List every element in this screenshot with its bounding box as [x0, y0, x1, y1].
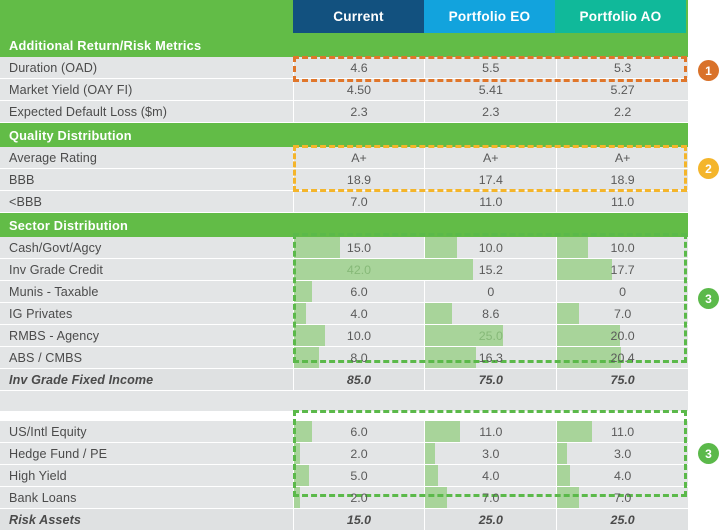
- cell-current: 15.0: [294, 237, 425, 258]
- cell-current: 6.0: [294, 421, 425, 442]
- cell-ao: 4.0: [557, 465, 688, 486]
- cell-ao: 18.9: [557, 169, 688, 190]
- table-row[interactable]: Inv Grade Credit 42.0 15.2 17.7: [0, 259, 688, 281]
- cell-eo: 4.0: [425, 465, 556, 486]
- cell-eo: 7.0: [425, 487, 556, 508]
- bar-fill: [294, 487, 300, 508]
- bar-fill: [557, 303, 579, 324]
- bar-fill: [425, 303, 452, 324]
- report-table-page: Current Portfolio EO Portfolio AO Additi…: [0, 0, 727, 527]
- cell-eo: 5.41: [425, 79, 556, 100]
- cell-current: 42.0: [294, 259, 425, 280]
- table-row[interactable]: Hedge Fund / PE 2.0 3.0 3.0: [0, 443, 688, 465]
- cell-eo: 75.0: [425, 369, 556, 390]
- cell-ao: 17.7: [557, 259, 688, 280]
- row-label: Bank Loans: [0, 487, 293, 508]
- cell-ao: 10.0: [557, 237, 688, 258]
- annotation-badge-3[interactable]: 3: [698, 288, 719, 309]
- table-row[interactable]: Cash/Govt/Agcy 15.0 10.0 10.0: [0, 237, 688, 259]
- badge-number: 3: [705, 447, 712, 461]
- annotation-badge-1[interactable]: 1: [698, 60, 719, 81]
- row-label: IG Privates: [0, 303, 293, 324]
- cell-current: 4.6: [294, 57, 425, 78]
- bar-fill: [425, 465, 437, 486]
- cell-ao: 3.0: [557, 443, 688, 464]
- row-label: RMBS - Agency: [0, 325, 293, 346]
- bar-fill: [557, 421, 591, 442]
- cell-current: 18.9: [294, 169, 425, 190]
- row-label: BBB: [0, 169, 293, 190]
- cell-current: 10.0: [294, 325, 425, 346]
- table-row[interactable]: Expected Default Loss ($m) 2.3 2.3 2.2: [0, 101, 688, 123]
- table-row[interactable]: US/Intl Equity 6.0 11.0 11.0: [0, 421, 688, 443]
- row-label: Market Yield (OAY FI): [0, 79, 293, 100]
- table-row[interactable]: High Yield 5.0 4.0 4.0: [0, 465, 688, 487]
- bar-fill: [294, 237, 341, 258]
- table-spacer-gap: [0, 412, 688, 421]
- table-row[interactable]: Bank Loans 2.0 7.0 7.0: [0, 487, 688, 509]
- section-title: Additional Return/Risk Metrics: [0, 33, 688, 57]
- bar-fill: [557, 237, 588, 258]
- row-label: Average Rating: [0, 147, 293, 168]
- bar-fill: [294, 281, 313, 302]
- table-row[interactable]: <BBB 7.0 11.0 11.0: [0, 191, 688, 213]
- table-header-row: Current Portfolio EO Portfolio AO: [0, 0, 688, 33]
- cell-eo: 16.3: [425, 347, 556, 368]
- cell-eo: 11.0: [425, 421, 556, 442]
- table-row[interactable]: IG Privates 4.0 8.6 7.0: [0, 303, 688, 325]
- section-title: Quality Distribution: [0, 123, 688, 147]
- cell-ao: 0: [557, 281, 688, 302]
- bar-fill: [294, 347, 319, 368]
- cell-ao: 11.0: [557, 191, 688, 212]
- section-header-additional-return-risk-metrics: Additional Return/Risk Metrics: [0, 33, 688, 57]
- column-header-portfolio-ao[interactable]: Portfolio AO: [555, 0, 686, 33]
- bar-fill: [425, 347, 476, 368]
- row-label: High Yield: [0, 465, 293, 486]
- row-label: Munis - Taxable: [0, 281, 293, 302]
- cell-ao: 2.2: [557, 101, 688, 122]
- cell-ao: A+: [557, 147, 688, 168]
- bar-fill: [294, 465, 310, 486]
- badge-number: 2: [705, 162, 712, 176]
- table-row[interactable]: Duration (OAD) 4.6 5.5 5.3: [0, 57, 688, 79]
- metrics-table: Current Portfolio EO Portfolio AO Additi…: [0, 0, 688, 531]
- bar-fill: [294, 443, 300, 464]
- table-row[interactable]: Market Yield (OAY FI) 4.50 5.41 5.27: [0, 79, 688, 101]
- cell-current: 85.0: [294, 369, 425, 390]
- cell-eo: 3.0: [425, 443, 556, 464]
- cell-eo: 8.6: [425, 303, 556, 324]
- cell-current: 2.0: [294, 443, 425, 464]
- cell-current: A+: [294, 147, 425, 168]
- bar-fill: [557, 259, 612, 280]
- cell-eo: 11.0: [425, 191, 556, 212]
- cell-eo: 15.2: [425, 259, 556, 280]
- bar-fill: [425, 443, 434, 464]
- bar-fill: [557, 443, 566, 464]
- table-row[interactable]: ABS / CMBS 8.0 16.3 20.4: [0, 347, 688, 369]
- row-label: Duration (OAD): [0, 57, 293, 78]
- table-row-total-inv-grade-fixed-income[interactable]: Inv Grade Fixed Income 85.0 75.0 75.0: [0, 369, 688, 391]
- annotation-badge-4[interactable]: 3: [698, 443, 719, 464]
- cell-eo: 0: [425, 281, 556, 302]
- cell-current: 8.0: [294, 347, 425, 368]
- section-header-sector-distribution: Sector Distribution: [0, 213, 688, 237]
- cell-current: 2.0: [294, 487, 425, 508]
- badge-number: 1: [705, 64, 712, 78]
- bar-fill: [425, 237, 456, 258]
- bar-fill: [425, 487, 447, 508]
- cell-ao: 20.4: [557, 347, 688, 368]
- cell-eo: 2.3: [425, 101, 556, 122]
- cell-current: 5.0: [294, 465, 425, 486]
- header-blank-cell: [0, 0, 293, 33]
- table-spacer-row: [0, 391, 688, 412]
- annotation-badge-2[interactable]: 2: [698, 158, 719, 179]
- row-label: Inv Grade Credit: [0, 259, 293, 280]
- column-header-portfolio-eo[interactable]: Portfolio EO: [424, 0, 555, 33]
- cell-current: 4.50: [294, 79, 425, 100]
- row-label: Expected Default Loss ($m): [0, 101, 293, 122]
- table-row[interactable]: Average Rating A+ A+ A+: [0, 147, 688, 169]
- bar-fill: [425, 259, 472, 280]
- bar-fill: [294, 303, 306, 324]
- table-row[interactable]: Munis - Taxable 6.0 0 0: [0, 281, 688, 303]
- row-label: <BBB: [0, 191, 293, 212]
- cell-ao: 5.27: [557, 79, 688, 100]
- cell-ao: 5.3: [557, 57, 688, 78]
- cell-eo: 17.4: [425, 169, 556, 190]
- cell-eo: 25.0: [425, 325, 556, 346]
- table-row-total-risk-assets[interactable]: Risk Assets 15.0 25.0 25.0: [0, 509, 688, 531]
- cell-eo: 5.5: [425, 57, 556, 78]
- section-title: Sector Distribution: [0, 213, 688, 237]
- cell-current: 6.0: [294, 281, 425, 302]
- row-label: Inv Grade Fixed Income: [0, 369, 293, 390]
- table-row[interactable]: BBB 18.9 17.4 18.9: [0, 169, 688, 191]
- section-header-quality-distribution: Quality Distribution: [0, 123, 688, 147]
- cell-eo: 10.0: [425, 237, 556, 258]
- row-label: Cash/Govt/Agcy: [0, 237, 293, 258]
- column-header-current[interactable]: Current: [293, 0, 424, 33]
- cell-current: 4.0: [294, 303, 425, 324]
- cell-ao: 75.0: [557, 369, 688, 390]
- cell-ao: 7.0: [557, 303, 688, 324]
- row-label: US/Intl Equity: [0, 421, 293, 442]
- badge-number: 3: [705, 292, 712, 306]
- cell-ao: 7.0: [557, 487, 688, 508]
- cell-current: 7.0: [294, 191, 425, 212]
- bar-fill: [425, 421, 459, 442]
- row-label: ABS / CMBS: [0, 347, 293, 368]
- cell-ao: 20.0: [557, 325, 688, 346]
- spacer-fill: [0, 391, 688, 411]
- cell-ao: 11.0: [557, 421, 688, 442]
- bar-fill: [294, 325, 325, 346]
- table-row[interactable]: RMBS - Agency 10.0 25.0 20.0: [0, 325, 688, 347]
- cell-eo: A+: [425, 147, 556, 168]
- cell-current: 2.3: [294, 101, 425, 122]
- row-label: Hedge Fund / PE: [0, 443, 293, 464]
- bar-fill: [557, 465, 569, 486]
- bar-fill: [294, 421, 313, 442]
- bar-fill: [557, 487, 579, 508]
